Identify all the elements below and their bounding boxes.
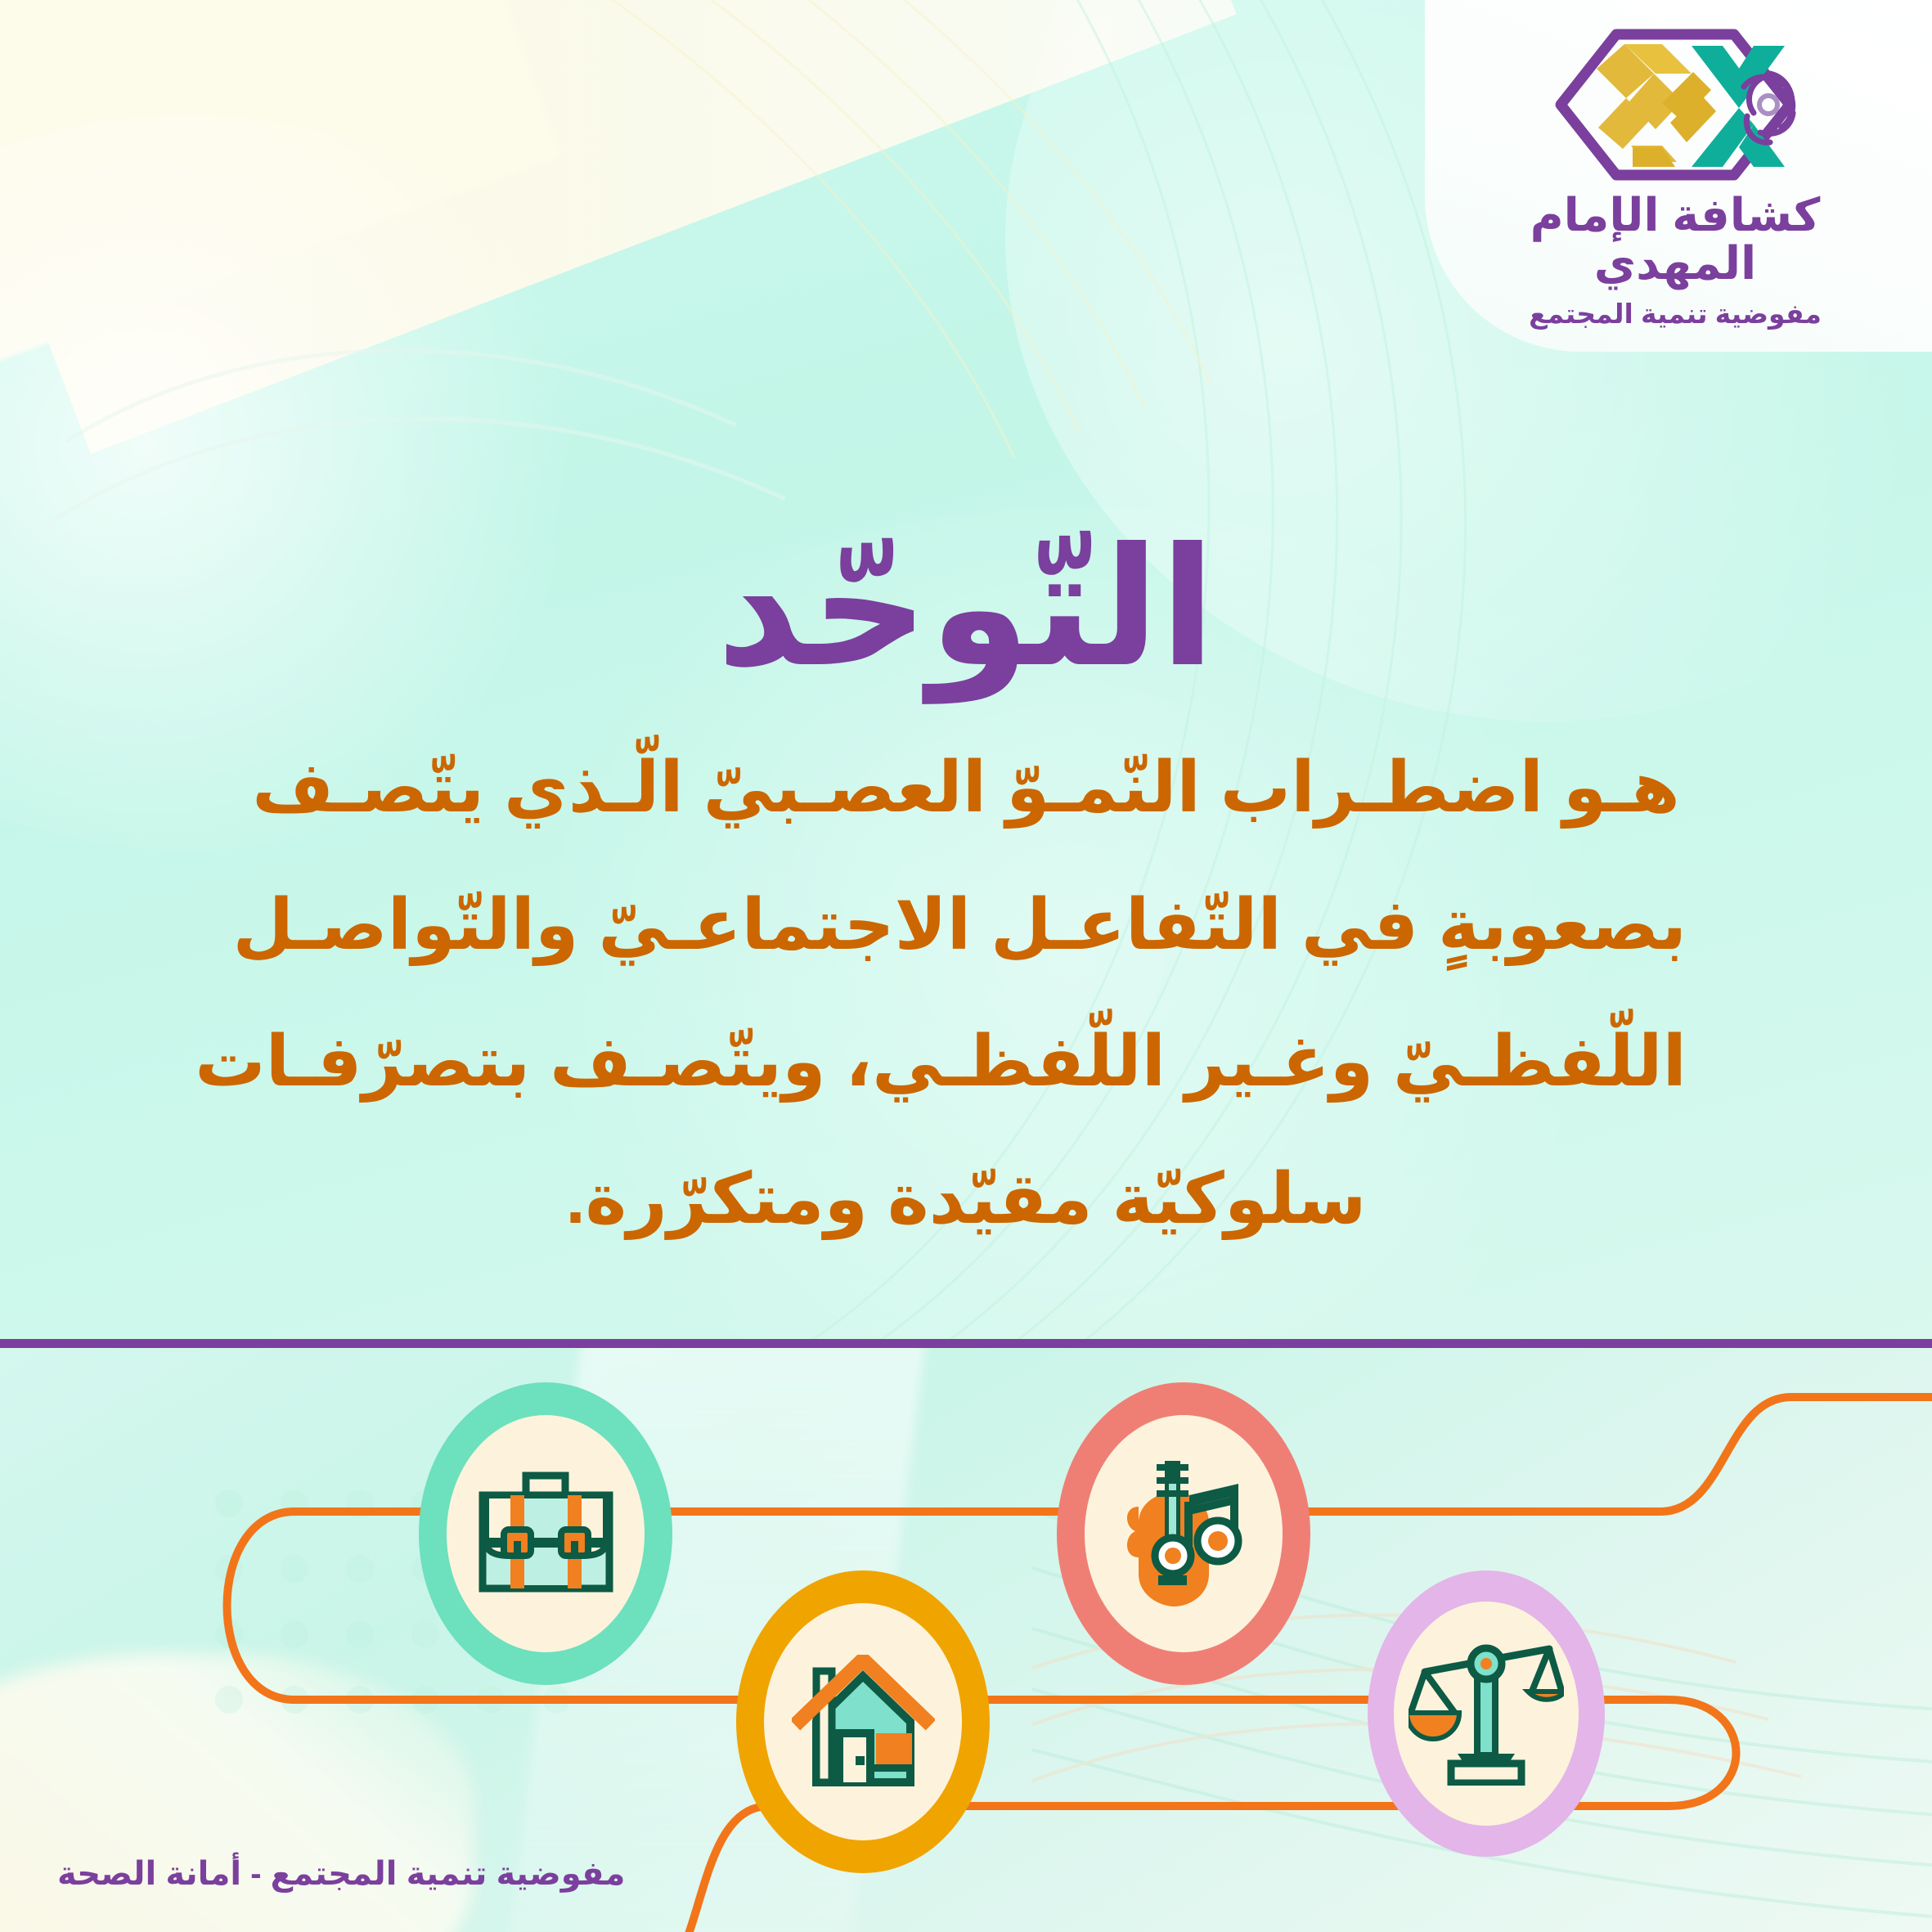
section-divider xyxy=(0,1339,1932,1348)
logo-department-name: مفوضية تنمية المجتمع xyxy=(1471,298,1880,330)
logo-organization-name: كشافة الإمام المهدي xyxy=(1471,191,1880,288)
body-line-4: سلوكيّة مقيّدة ومتكرّرة. xyxy=(245,1131,1687,1269)
icon-node-house[interactable] xyxy=(736,1570,990,1873)
logo-card: كشافة الإمام المهدي مفوضية تنمية المجتمع xyxy=(1425,0,1932,352)
poster-root: كشافة الإمام المهدي مفوضية تنمية المجتمع… xyxy=(0,0,1932,1932)
body-line-2: بصعوبةٍ في التّفاعـل الاجتماعـيّ والتّوا… xyxy=(245,857,1687,995)
icon-node-violin[interactable] xyxy=(1057,1382,1310,1685)
body-description: هـو اضطـراب النّمـوّ العصـبيّ الّـذي يتّ… xyxy=(245,720,1687,1269)
scales-icon xyxy=(1409,1642,1564,1786)
icon-panel: مفوضية تنمية المجتمع - أمانة الصحة xyxy=(0,1348,1932,1932)
icon-node-scales[interactable] xyxy=(1368,1570,1605,1857)
kashafa-hexagon-logo-icon xyxy=(1548,23,1803,186)
logo-block: كشافة الإمام المهدي مفوضية تنمية المجتمع xyxy=(1471,23,1880,330)
house-icon xyxy=(792,1655,935,1790)
page-title: التّوحّد xyxy=(0,519,1932,699)
body-line-3: اللّفظـيّ وغـير اللّفظـي، ويتّصـف بتصرّف… xyxy=(245,994,1687,1131)
body-line-1: هـو اضطـراب النّمـوّ العصـبيّ الّـذي يتّ… xyxy=(245,720,1687,857)
icon-node-briefcase[interactable] xyxy=(419,1382,672,1685)
violin-music-icon xyxy=(1114,1456,1253,1611)
footer-text: مفوضية تنمية المجتمع - أمانة الصحة xyxy=(57,1855,625,1893)
briefcase-icon xyxy=(474,1471,618,1597)
